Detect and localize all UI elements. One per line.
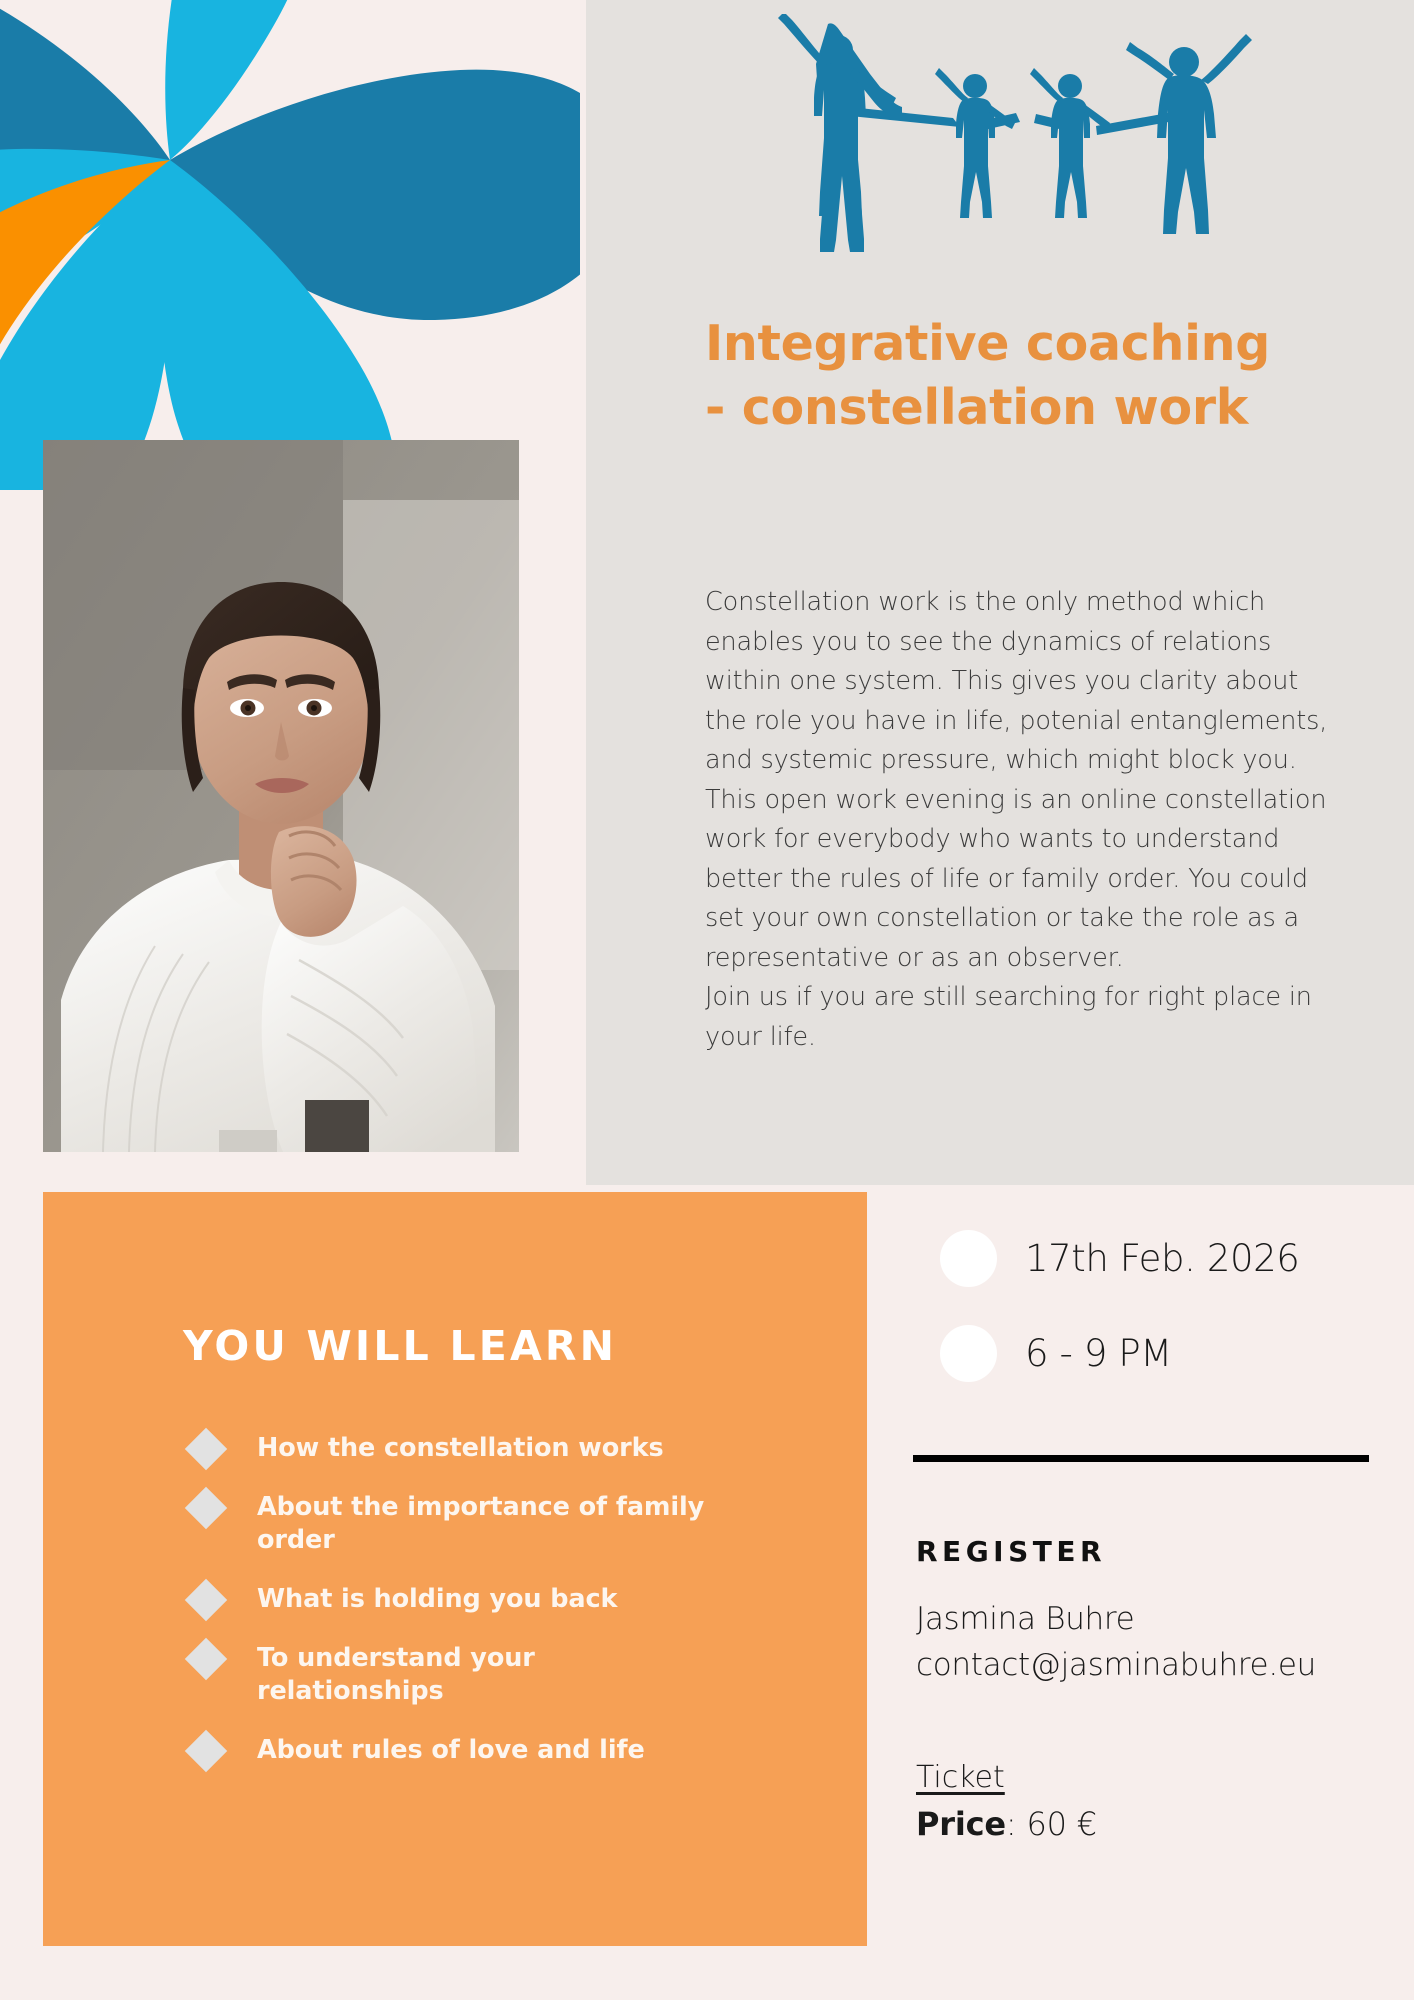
you-will-learn-heading: YOU WILL LEARN bbox=[183, 1322, 617, 1370]
diamond-bullet-icon bbox=[185, 1638, 227, 1680]
list-item: About the importance of family order bbox=[183, 1491, 823, 1557]
list-item: What is holding you back bbox=[183, 1583, 823, 1616]
family-silhouette-icon bbox=[748, 14, 1268, 259]
list-item: About rules of love and life bbox=[183, 1734, 823, 1767]
portrait-photo bbox=[43, 440, 519, 1152]
ticket-section: Ticket Price: 60 € bbox=[916, 1760, 1376, 1843]
ticket-label: Ticket bbox=[916, 1760, 1376, 1795]
diamond-bullet-icon bbox=[185, 1579, 227, 1621]
diamond-bullet-icon bbox=[185, 1487, 227, 1529]
event-time-row: 6 - 9 PM bbox=[940, 1325, 1370, 1382]
circle-bullet-icon bbox=[940, 1325, 997, 1382]
event-date-row: 17th Feb. 2026 bbox=[940, 1230, 1370, 1287]
event-date: 17th Feb. 2026 bbox=[1025, 1237, 1299, 1280]
price-label: Price bbox=[916, 1805, 1006, 1843]
register-email[interactable]: contact@jasminabuhre.eu bbox=[916, 1642, 1376, 1688]
poster: Integrative coaching - constellation wor… bbox=[0, 0, 1414, 2000]
list-item-label: What is holding you back bbox=[257, 1583, 617, 1616]
price-separator: : bbox=[1006, 1805, 1027, 1843]
list-item: How the constellation works bbox=[183, 1432, 823, 1465]
list-item-label: How the constellation works bbox=[257, 1432, 664, 1465]
event-datetime: 17th Feb. 2026 6 - 9 PM bbox=[940, 1230, 1370, 1420]
ticket-price: Price: 60 € bbox=[916, 1805, 1376, 1843]
register-section: REGISTER Jasmina Buhre contact@jasminabu… bbox=[916, 1535, 1376, 1688]
list-item-label: About the importance of family order bbox=[257, 1491, 727, 1557]
you-will-learn-panel: YOU WILL LEARN How the constellation wor… bbox=[43, 1192, 867, 1946]
list-item: To understand your relationships bbox=[183, 1642, 823, 1708]
circle-bullet-icon bbox=[940, 1230, 997, 1287]
list-item-label: About rules of love and life bbox=[257, 1734, 645, 1767]
register-name: Jasmina Buhre bbox=[916, 1596, 1376, 1642]
price-value: 60 € bbox=[1026, 1805, 1096, 1843]
page-title: Integrative coaching - constellation wor… bbox=[705, 312, 1305, 439]
list-item-label: To understand your relationships bbox=[257, 1642, 727, 1708]
divider-rule bbox=[913, 1455, 1369, 1462]
event-time: 6 - 9 PM bbox=[1025, 1332, 1172, 1375]
diamond-bullet-icon bbox=[185, 1428, 227, 1470]
register-heading: REGISTER bbox=[916, 1535, 1376, 1568]
diamond-bullet-icon bbox=[185, 1730, 227, 1772]
body-description: Constellation work is the only method wh… bbox=[705, 583, 1345, 1057]
you-will-learn-list: How the constellation works About the im… bbox=[183, 1432, 823, 1793]
